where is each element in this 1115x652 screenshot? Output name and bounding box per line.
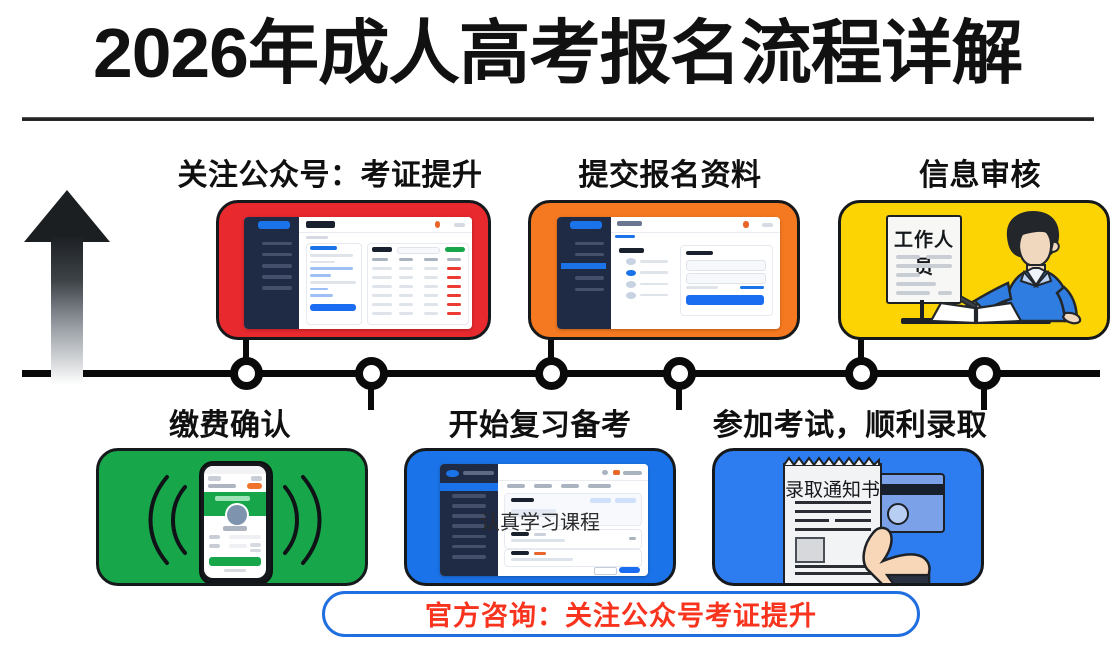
- phone-mockup: [199, 461, 273, 585]
- radio-label: [640, 260, 669, 263]
- course-heading: [511, 498, 534, 502]
- table-cell: [424, 303, 438, 306]
- table-header-cell: [399, 258, 413, 261]
- table-cell: [372, 285, 393, 288]
- table-cell: [399, 285, 413, 288]
- screen-sidebar: [244, 217, 299, 329]
- page-title: 2026年成人高考报名流程详解: [0, 8, 1115, 98]
- panel-row: [310, 294, 333, 297]
- breadcrumb: [306, 236, 329, 239]
- field-extra: [250, 549, 261, 552]
- radio-label: [640, 294, 669, 297]
- admission-letter-title: 录取通知书: [785, 475, 880, 502]
- avatar: [225, 503, 249, 527]
- tab-item[interactable]: [507, 484, 526, 488]
- form-link[interactable]: [740, 286, 765, 289]
- sidebar-item: [262, 264, 292, 268]
- form-input-code[interactable]: [686, 273, 766, 284]
- table-status-cell: [447, 276, 461, 279]
- panel-row: [310, 261, 335, 264]
- consult-banner[interactable]: 官方咨询：关注公众号考证提升: [322, 591, 920, 637]
- card-strip: [875, 484, 943, 495]
- table-header-cell: [447, 258, 461, 261]
- field-value: [229, 544, 248, 548]
- sidebar-item: [575, 253, 604, 257]
- step-label-submit-materials: 提交报名资料: [530, 150, 810, 194]
- table-cell: [399, 276, 413, 279]
- radio-label: [640, 283, 669, 286]
- form-heading: [686, 251, 713, 255]
- sidebar-item-active: [440, 483, 498, 491]
- banner-text: [215, 496, 250, 500]
- table-status-cell: [447, 312, 461, 315]
- table-status-cell: [447, 285, 461, 288]
- topbar-chip: [454, 223, 465, 227]
- nav-back[interactable]: [208, 476, 222, 480]
- sidebar-item: [262, 242, 292, 246]
- confirm-payment-button[interactable]: [209, 557, 261, 566]
- sidebar-item: [262, 286, 292, 290]
- screen-title: [617, 221, 642, 225]
- registration-form-screen: [557, 217, 780, 329]
- staff-sign-text: 工作人员: [888, 225, 960, 279]
- course-action[interactable]: [615, 498, 636, 503]
- table-cell: [372, 276, 393, 279]
- timeline-dot-4[interactable]: [663, 357, 696, 390]
- step-card-submit-materials[interactable]: [528, 200, 800, 340]
- board-stand: [920, 300, 924, 320]
- form-input-name[interactable]: [686, 260, 766, 271]
- footer-link[interactable]: [224, 569, 246, 572]
- panel-submit-button[interactable]: [310, 304, 356, 311]
- table-action-button[interactable]: [445, 247, 466, 252]
- sidebar-item: [452, 535, 485, 539]
- table-header-cell: [372, 258, 388, 261]
- table-cell: [399, 294, 413, 297]
- step-label-exam-and-admission: 参加考试，顺利录取: [705, 400, 995, 444]
- cancel-button[interactable]: [594, 567, 617, 575]
- step-label-information-review: 信息审核: [840, 150, 1115, 194]
- form-submit-button[interactable]: [686, 295, 764, 305]
- sidebar-item: [452, 545, 485, 549]
- table-status-cell: [447, 303, 461, 306]
- title-divider: [22, 117, 1094, 121]
- sidebar-item: [575, 242, 604, 246]
- lesson-title: [511, 551, 530, 555]
- step-card-start-review[interactable]: 认真学习课程: [404, 448, 676, 586]
- step-label-follow-official-account: 关注公众号：考证提升: [120, 150, 540, 194]
- radio-option[interactable]: [626, 281, 636, 288]
- table-cell: [424, 294, 438, 297]
- screen-logo: [258, 221, 290, 229]
- mobile-payment-screen: [204, 466, 266, 578]
- panel-row: [310, 274, 331, 277]
- table-status-cell: [447, 267, 461, 270]
- lesson-desc: [511, 539, 565, 542]
- table-cell: [399, 303, 413, 306]
- table-cell: [372, 294, 393, 297]
- table-cell: [372, 267, 393, 270]
- confirm-button[interactable]: [619, 567, 640, 573]
- table-cell: [399, 312, 413, 315]
- staff-sign-board: 工作人员: [886, 215, 962, 304]
- table-title: [372, 247, 393, 251]
- panel-row: [310, 281, 356, 284]
- table-cell: [424, 312, 438, 315]
- letter-seal-box: [795, 537, 825, 563]
- account-label: [208, 484, 237, 488]
- infographic-page: 2026年成人高考报名流程详解 关注公众号：考证提升: [0, 0, 1115, 652]
- sidebar-item: [262, 253, 292, 257]
- screen-logo: [446, 470, 458, 478]
- chevron-down-icon[interactable]: [629, 537, 635, 540]
- topbar-chip: [762, 223, 773, 227]
- avatar: [435, 221, 440, 227]
- pay-badge: [247, 483, 262, 489]
- panel-heading: [310, 246, 337, 250]
- panel-row: [310, 254, 353, 257]
- tab-item[interactable]: [561, 484, 580, 488]
- timeline-dot-1[interactable]: [230, 357, 263, 390]
- arrow-shaft: [51, 235, 83, 385]
- field-value: [229, 535, 261, 539]
- avatar: [743, 221, 748, 227]
- lesson-badge: [534, 552, 546, 555]
- lesson-desc: [511, 558, 573, 561]
- letter-torn-edge: [782, 456, 881, 466]
- panel-row: [310, 267, 353, 270]
- timeline-dot-2[interactable]: [355, 357, 388, 390]
- radio-option-selected[interactable]: [626, 270, 636, 277]
- consult-banner-text: 官方咨询：关注公众号考证提升: [325, 594, 917, 640]
- sidebar-item-active: [561, 263, 606, 269]
- field-label: [209, 544, 220, 548]
- sidebar-item: [575, 276, 604, 280]
- dashboard-table-screen: [244, 217, 472, 329]
- tab-item[interactable]: [588, 484, 611, 488]
- table-cell: [424, 267, 438, 270]
- step-label-start-review: 开始复习备考: [400, 400, 680, 444]
- sidebar-item: [262, 275, 292, 279]
- table-cell: [372, 312, 393, 315]
- step-card-payment-confirmation[interactable]: [96, 448, 368, 586]
- user-name: [223, 526, 248, 530]
- brand-name: [463, 471, 494, 475]
- hand-icon: [857, 513, 943, 586]
- timeline-dot-3[interactable]: [535, 357, 568, 390]
- screen-logo: [570, 221, 601, 229]
- field-label: [209, 535, 220, 539]
- radio-option[interactable]: [626, 258, 636, 265]
- user-name: [623, 471, 642, 475]
- step-card-follow-official-account[interactable]: [216, 200, 491, 340]
- screen-title: [306, 221, 336, 228]
- table-cell: [399, 267, 413, 270]
- field-extra: [250, 543, 261, 546]
- form-hint: [686, 286, 717, 289]
- sidebar-item: [452, 494, 485, 498]
- notification-icon[interactable]: [613, 470, 620, 476]
- breadcrumb: [615, 235, 635, 238]
- table-header-cell: [424, 258, 438, 261]
- course-overlay-text: 认真学习课程: [480, 506, 600, 535]
- radio-option[interactable]: [626, 292, 636, 299]
- sidebar-item: [452, 555, 485, 559]
- tab-item[interactable]: [534, 484, 553, 488]
- step-label-payment-confirmation: 缴费确认: [90, 400, 370, 444]
- radio-label: [640, 271, 669, 274]
- course-action[interactable]: [590, 498, 611, 503]
- table-cell: [424, 285, 438, 288]
- timeline-dot-5[interactable]: [845, 357, 878, 390]
- timeline-dot-6[interactable]: [968, 357, 1001, 390]
- open-book: [929, 299, 1025, 325]
- step-card-exam-and-admission[interactable]: 录取通知书: [712, 448, 984, 586]
- sidebar-item: [575, 288, 604, 292]
- table-cell: [424, 276, 438, 279]
- up-arrow-icon: [24, 190, 110, 385]
- panel-row: [310, 288, 328, 291]
- table-status-cell: [447, 294, 461, 297]
- nav-menu[interactable]: [251, 476, 262, 480]
- search-input[interactable]: [397, 247, 440, 254]
- screen-sidebar: [557, 217, 611, 329]
- status-bar: [204, 466, 266, 474]
- step-card-information-review[interactable]: 工作人员: [838, 200, 1110, 340]
- table-cell: [372, 303, 393, 306]
- section-heading: [619, 248, 644, 253]
